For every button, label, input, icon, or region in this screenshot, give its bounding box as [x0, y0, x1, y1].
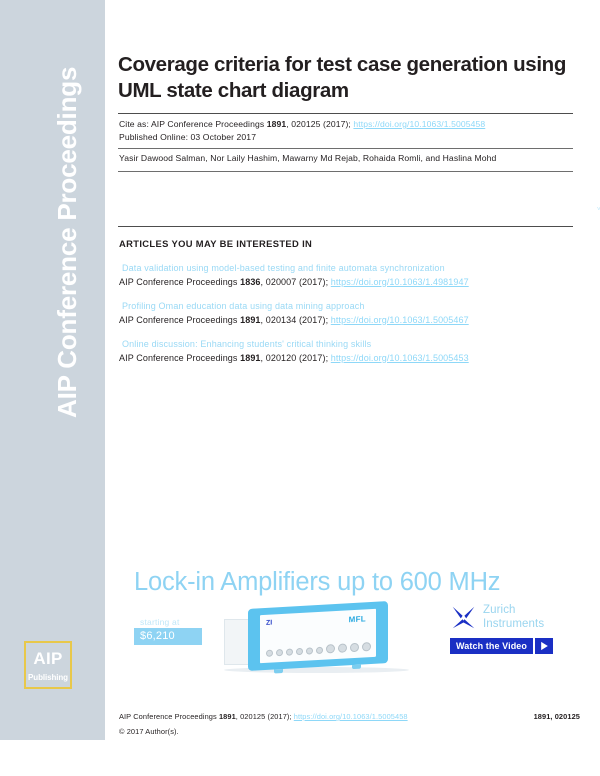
device-brand-mark: ZI — [266, 620, 272, 627]
zurich-instruments-logo: Zurich Instruments — [450, 604, 580, 631]
related-article-doi-link[interactable]: https://doi.org/10.1063/1.5005467 — [331, 315, 469, 325]
document-page: AIP Conference Proceedings AIP Publishin… — [0, 0, 600, 776]
ad-price-label: starting at — [140, 617, 180, 627]
cite-as-prefix: Cite as: AIP Conference Proceedings — [119, 119, 267, 129]
aip-logo-sub-text: Publishing — [26, 674, 70, 682]
zurich-instruments-name: Zurich Instruments — [483, 604, 544, 631]
divider-above-citation — [118, 113, 573, 114]
footer-page-identifier: 1891, 020125 — [534, 712, 580, 721]
cite-volume: 1891 — [267, 119, 287, 129]
device-connector — [326, 644, 335, 654]
brand-line-1: Zurich — [483, 604, 516, 616]
related-articles-list: Data validation using model-based testin… — [119, 262, 579, 376]
journal-name-vertical: AIP Conference Proceedings — [54, 18, 80, 418]
related-cite-suffix: , 020120 (2017); — [261, 353, 331, 363]
device-connector — [316, 647, 323, 654]
related-cite-volume: 1891 — [240, 315, 260, 325]
device-foot — [352, 665, 361, 670]
related-article-doi-link[interactable]: https://doi.org/10.1063/1.5005453 — [331, 353, 469, 363]
device-connector — [350, 643, 359, 653]
device-connector — [306, 647, 313, 654]
published-online-line: Published Online: 03 October 2017 — [119, 131, 574, 144]
related-cite-suffix: , 020134 (2017); — [261, 315, 331, 325]
device-connector — [362, 642, 371, 652]
aip-logo-main-text: AIP — [26, 650, 70, 667]
device-model-label: MFL — [349, 614, 366, 624]
view-online-action[interactable]: View Online — [584, 178, 600, 212]
related-article-title[interactable]: Profiling Oman education data using data… — [119, 300, 579, 314]
related-article-doi-link[interactable]: https://doi.org/10.1063/1.4981947 — [331, 277, 469, 287]
related-cite-volume: 1891 — [240, 353, 260, 363]
aip-publishing-logo: AIP Publishing — [24, 641, 72, 689]
device-connector — [296, 648, 303, 655]
related-article-citation: AIP Conference Proceedings 1891, 020120 … — [119, 352, 579, 366]
article-doi-link[interactable]: https://doi.org/10.1063/1.5005458 — [353, 119, 485, 129]
list-item: Profiling Oman education data using data… — [119, 300, 579, 327]
footer-cite-prefix: AIP Conference Proceedings — [119, 712, 219, 721]
divider-above-authors — [118, 148, 573, 149]
watch-the-video-label: Watch the Video — [450, 638, 533, 654]
related-cite-suffix: , 020007 (2017); — [261, 277, 331, 287]
ad-price-value: $6,210 — [134, 628, 202, 645]
device-foot — [274, 669, 283, 674]
brand-line-2: Instruments — [483, 618, 544, 630]
device-chassis: ZI MFL — [248, 601, 388, 671]
related-article-citation: AIP Conference Proceedings 1836, 020007 … — [119, 276, 579, 290]
journal-sidebar: AIP Conference Proceedings AIP Publishin… — [0, 0, 105, 740]
divider-above-related — [118, 226, 573, 227]
footer-citation: AIP Conference Proceedings 1891, 020125 … — [119, 712, 408, 721]
ad-product-image: ZI MFL — [224, 601, 389, 673]
ad-headline: Lock-in Amplifiers up to 600 MHz — [134, 568, 500, 597]
watch-the-video-button[interactable]: Watch the Video — [450, 638, 553, 654]
cite-as-line: Cite as: AIP Conference Proceedings 1891… — [119, 118, 574, 131]
main-content: Coverage criteria for test case generati… — [118, 0, 580, 776]
play-icon — [535, 638, 553, 654]
related-article-title[interactable]: Data validation using model-based testin… — [119, 262, 579, 276]
related-cite-prefix: AIP Conference Proceedings — [119, 277, 240, 287]
related-article-citation: AIP Conference Proceedings 1891, 020134 … — [119, 314, 579, 328]
footer-cite-volume: 1891 — [219, 712, 236, 721]
device-connector — [286, 648, 293, 655]
advertisement-banner[interactable]: Lock-in Amplifiers up to 600 MHz startin… — [112, 547, 585, 690]
footer-cite-suffix: , 020125 (2017); — [236, 712, 294, 721]
related-cite-volume: 1836 — [240, 277, 260, 287]
device-connector — [276, 649, 283, 656]
divider-below-authors — [118, 171, 573, 172]
citation-block: Cite as: AIP Conference Proceedings 1891… — [119, 118, 574, 145]
list-item: Data validation using model-based testin… — [119, 262, 579, 289]
author-list: Yasir Dawood Salman, Nor Laily Hashim, M… — [119, 153, 574, 163]
device-front-panel: ZI MFL — [260, 609, 376, 663]
ad-brand-block: Zurich Instruments Watch the Video — [450, 604, 580, 654]
device-connector — [266, 650, 273, 657]
device-connector-row — [266, 642, 372, 657]
related-article-title[interactable]: Online discussion: Enhancing students' c… — [119, 338, 579, 352]
cite-article-number: , 020125 (2017); — [286, 119, 353, 129]
globe-icon — [584, 178, 600, 205]
view-online-label: View Online — [584, 207, 600, 212]
article-actions: View Online Export Citation — [584, 178, 600, 212]
related-articles-heading: ARTICLES YOU MAY BE INTERESTED IN — [119, 238, 312, 249]
footer-doi-link[interactable]: https://doi.org/10.1063/1.5005458 — [294, 712, 408, 721]
footer-copyright: © 2017 Author(s). — [119, 727, 179, 736]
related-cite-prefix: AIP Conference Proceedings — [119, 353, 240, 363]
device-connector — [338, 643, 347, 653]
list-item: Online discussion: Enhancing students' c… — [119, 338, 579, 365]
zurich-x-icon — [450, 604, 477, 631]
related-cite-prefix: AIP Conference Proceedings — [119, 315, 240, 325]
page-title: Coverage criteria for test case generati… — [118, 52, 568, 104]
